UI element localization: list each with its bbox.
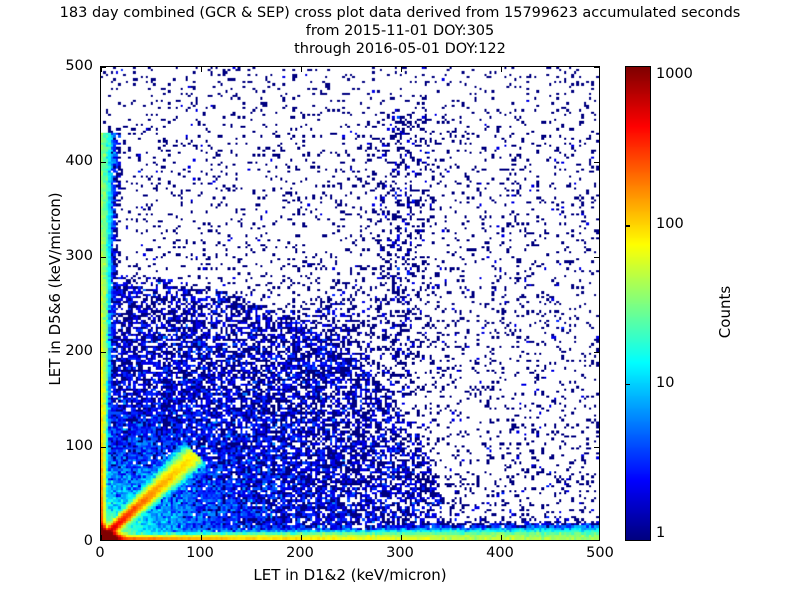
y-axis-title: LET in D5&6 (keV/micron) xyxy=(46,139,64,439)
y-tick-300 xyxy=(101,257,106,258)
y-tick-label-0: 0 xyxy=(40,533,93,549)
x-tick-label-100: 100 xyxy=(186,545,214,561)
x-tick-300 xyxy=(401,67,402,72)
x-tick-100 xyxy=(201,67,202,72)
title-line-1: 183 day combined (GCR & SEP) cross plot … xyxy=(0,4,800,22)
colorbar-gradient xyxy=(626,67,650,540)
chart-title: 183 day combined (GCR & SEP) cross plot … xyxy=(0,4,800,58)
y-tick-300 xyxy=(594,257,599,258)
y-tick-label-500: 500 xyxy=(40,58,93,74)
density-scatter-plot xyxy=(101,67,599,540)
colorbar-tick-100 xyxy=(626,225,630,226)
y-tick-label-100: 100 xyxy=(40,438,93,454)
figure-canvas: 183 day combined (GCR & SEP) cross plot … xyxy=(0,0,800,600)
colorbar xyxy=(625,66,651,541)
x-tick-200 xyxy=(301,535,302,540)
y-tick-500 xyxy=(594,67,599,68)
title-line-3: through 2016-05-01 DOY:122 xyxy=(0,40,800,58)
colorbar-label-1000: 1000 xyxy=(656,66,693,82)
y-tick-label-wrap-500: 500 xyxy=(40,66,93,82)
title-line-2: from 2015-11-01 DOY:305 xyxy=(0,22,800,40)
x-tick-300 xyxy=(401,535,402,540)
colorbar-label-10: 10 xyxy=(656,375,674,391)
colorbar-title: Counts xyxy=(716,232,734,392)
x-tick-label-0: 0 xyxy=(95,545,104,561)
x-tick-label-500: 500 xyxy=(586,545,614,561)
y-tick-500 xyxy=(101,67,106,68)
x-tick-0 xyxy=(101,535,102,540)
y-tick-400 xyxy=(594,162,599,163)
x-tick-400 xyxy=(501,67,502,72)
x-tick-400 xyxy=(501,535,502,540)
colorbar-label-1: 1 xyxy=(656,525,665,541)
x-tick-100 xyxy=(201,535,202,540)
x-tick-label-300: 300 xyxy=(386,545,414,561)
x-axis-title: LET in D1&2 (keV/micron) xyxy=(100,566,600,584)
y-tick-100 xyxy=(101,447,106,448)
colorbar-tick-10 xyxy=(626,384,630,385)
y-tick-label-wrap-100: 100 xyxy=(40,446,93,462)
x-tick-label-400: 400 xyxy=(486,545,514,561)
y-tick-400 xyxy=(101,162,106,163)
x-tick-label-200: 200 xyxy=(286,545,314,561)
colorbar-label-100: 100 xyxy=(656,216,684,232)
plot-area xyxy=(100,66,600,541)
y-tick-200 xyxy=(101,352,106,353)
y-tick-100 xyxy=(594,447,599,448)
x-tick-200 xyxy=(301,67,302,72)
y-tick-label-wrap-0: 0 xyxy=(40,541,93,557)
y-tick-200 xyxy=(594,352,599,353)
